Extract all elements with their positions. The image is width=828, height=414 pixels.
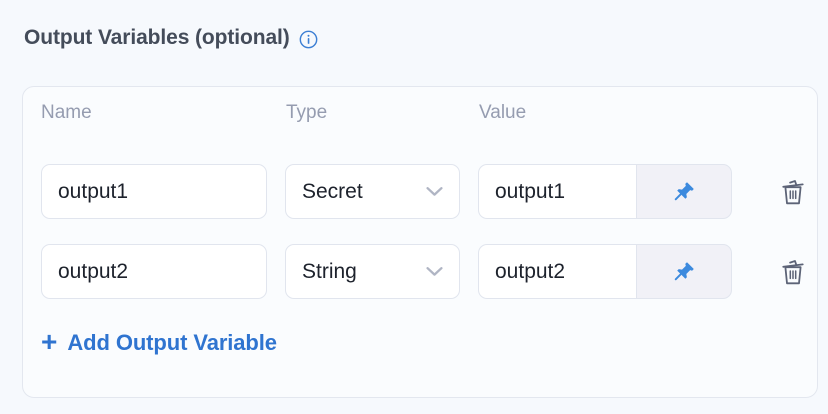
variable-value-input[interactable] (478, 164, 636, 219)
chevron-down-icon (426, 266, 445, 277)
output-variables-card: Name Type Value Secret (22, 86, 818, 398)
column-header-type: Type (286, 102, 327, 124)
column-header-value: Value (479, 102, 526, 124)
variable-type-value: Secret (302, 180, 426, 204)
plus-icon: + (41, 328, 57, 356)
pin-icon (673, 180, 696, 203)
info-circle-icon[interactable] (299, 28, 318, 49)
variable-value-group (478, 244, 732, 299)
column-header-name: Name (41, 102, 92, 124)
variable-rows: Secret (23, 157, 817, 317)
add-output-variable-label: Add Output Variable (67, 330, 277, 356)
output-variables-panel: Output Variables (optional) Name Type Va… (0, 0, 828, 414)
trash-icon (780, 178, 806, 206)
variable-value-input[interactable] (478, 244, 636, 299)
page-title: Output Variables (optional) (24, 26, 290, 50)
pin-value-button[interactable] (636, 244, 732, 299)
section-header: Output Variables (optional) (24, 26, 318, 50)
variable-type-select[interactable]: String (285, 244, 460, 299)
delete-row-button[interactable] (775, 254, 811, 290)
variable-name-input[interactable] (41, 244, 267, 299)
pin-icon (673, 260, 696, 283)
variable-value-group (478, 164, 732, 219)
trash-icon (780, 258, 806, 286)
table-row: String (23, 237, 817, 317)
table-row: Secret (23, 157, 817, 237)
delete-row-button[interactable] (775, 174, 811, 210)
variable-type-value: String (302, 260, 426, 284)
add-output-variable-button[interactable]: + Add Output Variable (41, 330, 277, 356)
pin-value-button[interactable] (636, 164, 732, 219)
variable-type-select[interactable]: Secret (285, 164, 460, 219)
chevron-down-icon (426, 186, 445, 197)
variable-name-input[interactable] (41, 164, 267, 219)
column-headers: Name Type Value (23, 102, 817, 132)
